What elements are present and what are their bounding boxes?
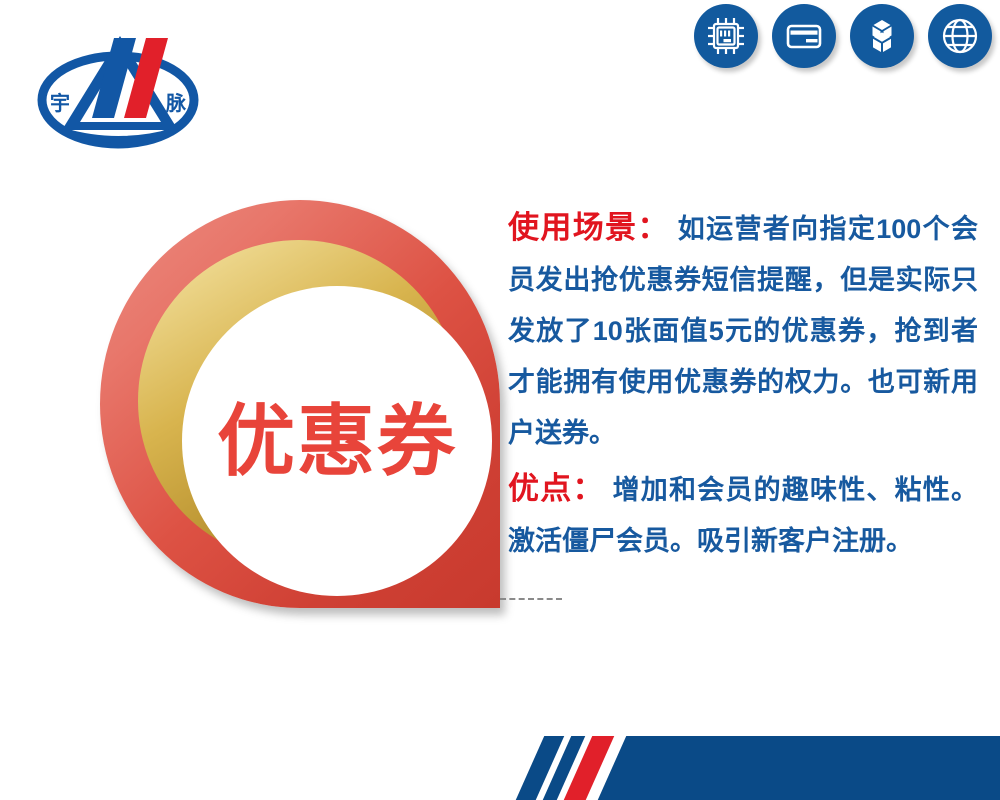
globe-icon xyxy=(940,16,980,56)
coupon-pin-graphic: 优惠券 xyxy=(100,200,502,610)
credit-card-icon xyxy=(784,16,824,56)
logo-right-char: 脉 xyxy=(165,91,187,115)
brand-logo: 宇 脉 xyxy=(28,22,208,154)
icon-strip xyxy=(694,4,992,68)
bottom-stripe-decoration xyxy=(0,736,1000,800)
coupon-pin-gold-ring: 优惠券 xyxy=(138,240,460,562)
globe-icon-badge[interactable] xyxy=(928,4,992,68)
advantage-heading: 优点： xyxy=(508,471,605,506)
pin-connector-dashed-line xyxy=(500,598,562,600)
stripe-blue-band xyxy=(598,736,1000,800)
scenario-body: 如运营者向指定100个会员发出抢优惠券短信提醒，但是实际只发放了10张面值5元的… xyxy=(508,214,978,448)
cube-icon-badge[interactable] xyxy=(850,4,914,68)
coupon-pin-body: 优惠券 xyxy=(100,200,500,608)
credit-card-icon-badge[interactable] xyxy=(772,4,836,68)
cube-icon xyxy=(862,16,902,56)
chip-icon xyxy=(706,16,746,56)
scenario-heading: 使用场景： xyxy=(508,210,670,245)
advantage-paragraph: 优点：增加和会员的趣味性、粘性。激活僵尸会员。吸引新客户注册。 xyxy=(508,463,978,567)
stripe-blue-2 xyxy=(543,736,585,800)
brand-logo-graphic: 宇 脉 xyxy=(28,22,208,154)
coupon-label: 优惠券 xyxy=(217,402,457,480)
coupon-pin-face: 优惠券 xyxy=(182,286,492,596)
text-panel: 使用场景：如运营者向指定100个会员发出抢优惠券短信提醒，但是实际只发放了10张… xyxy=(508,202,978,571)
scenario-paragraph: 使用场景：如运营者向指定100个会员发出抢优惠券短信提醒，但是实际只发放了10张… xyxy=(508,202,978,459)
chip-icon-badge[interactable] xyxy=(694,4,758,68)
stripe-blue-1 xyxy=(516,736,564,800)
stripe-red xyxy=(564,736,614,800)
logo-left-char: 宇 xyxy=(50,91,70,115)
